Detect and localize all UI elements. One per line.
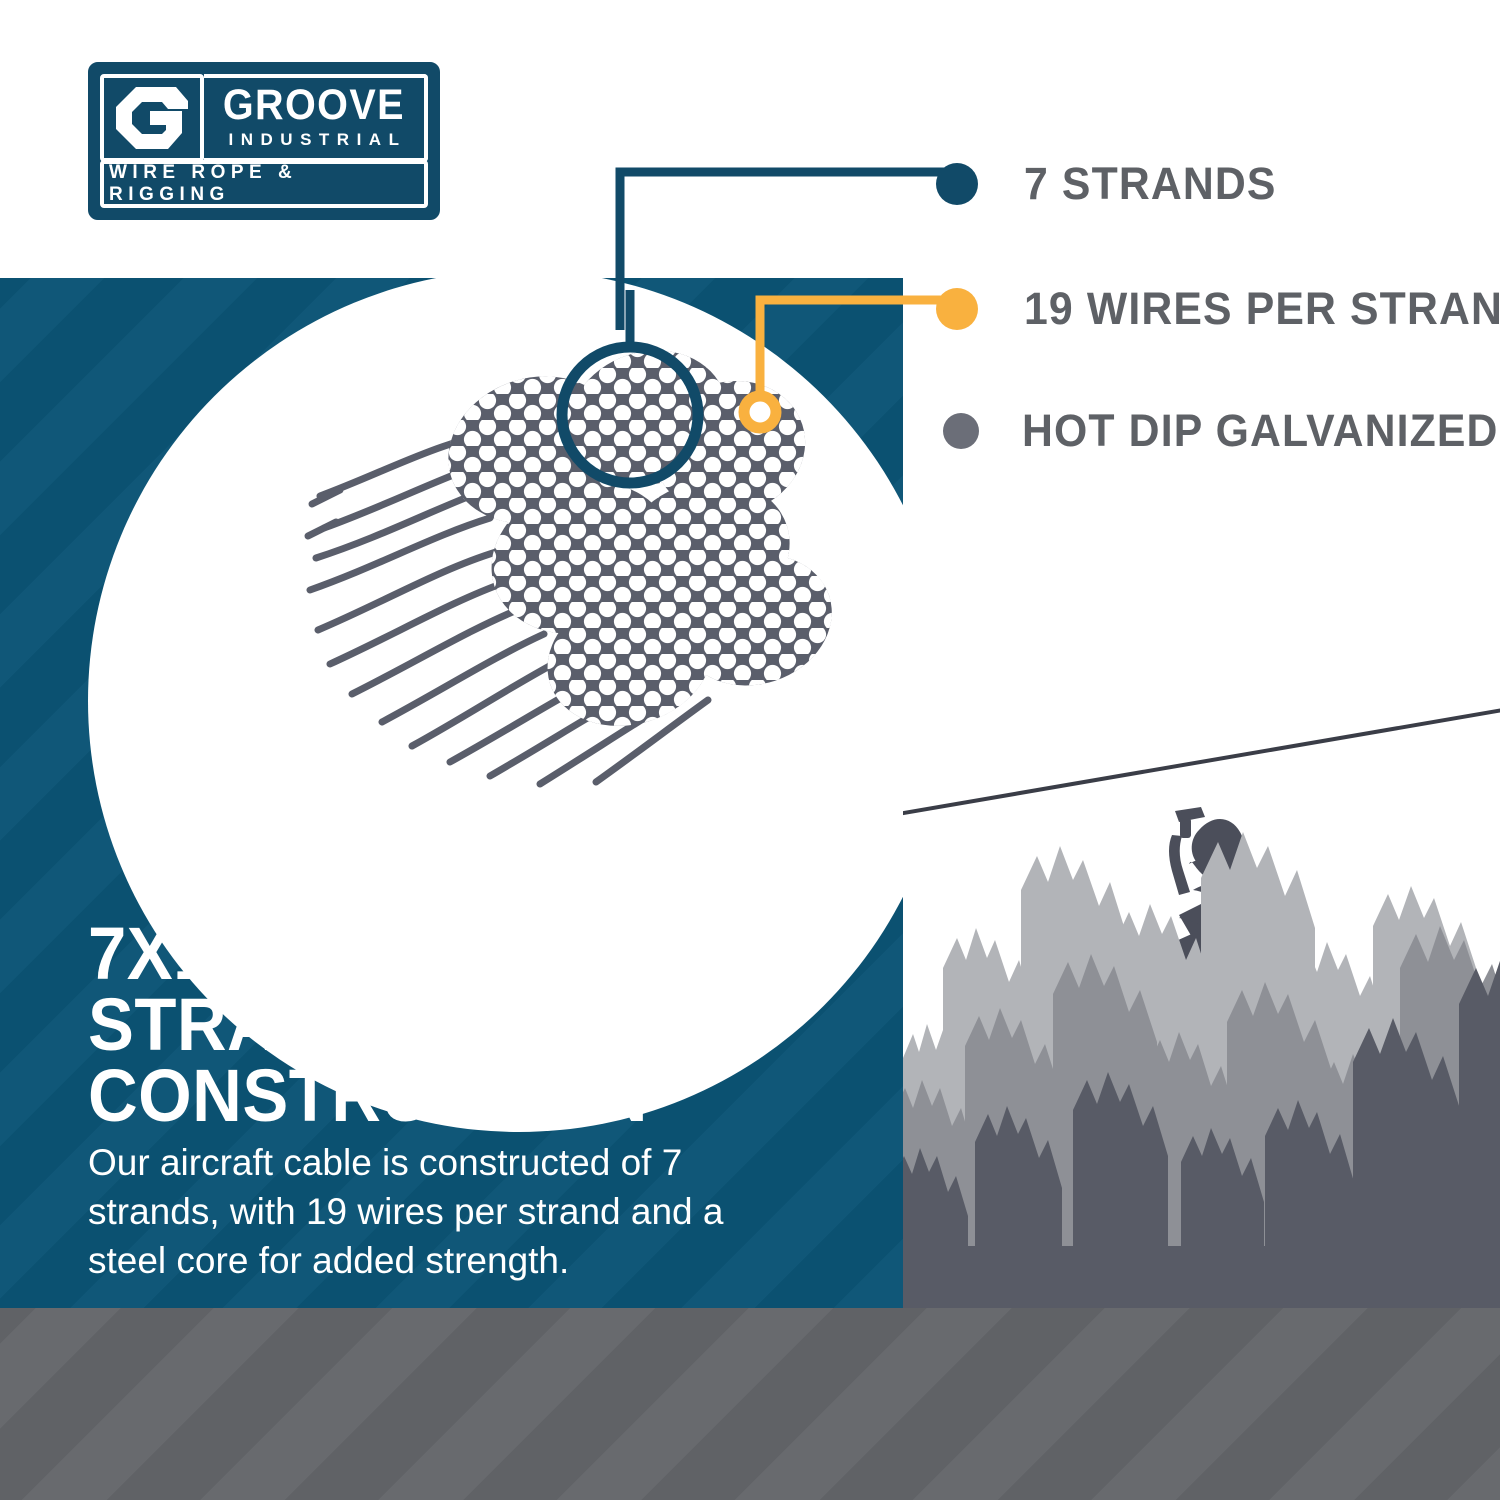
leader-line-strands [620,172,955,330]
band-stripe-texture [0,1308,1500,1500]
leader-line-wires [760,300,955,412]
logo-subword: INDUSTRIAL [222,130,407,150]
callout-item-wires: 19 WIRES PER STRAND [936,283,1500,335]
brand-logo[interactable]: GROOVE INDUSTRIAL WIRE ROPE & RIGGING [88,62,440,220]
callout-label-wires: 19 WIRES PER STRAND [1024,283,1500,335]
bottom-gray-band [0,1308,1500,1500]
headline-line-2: STRAND CONSTRUCTION [88,989,823,1131]
wires-anchor-ring-icon [744,396,776,428]
logo-wordmark: GROOVE [223,86,405,126]
infographic-canvas: 7 STRANDS 19 WIRES PER STRAND HOT DIP GA… [0,0,1500,1500]
callout-label-galvanized: HOT DIP GALVANIZED [1022,405,1499,457]
callout-dot-strands [936,163,978,205]
logo-tagline: WIRE ROPE & RIGGING [104,162,424,206]
callout-label-strands: 7 STRANDS [1024,158,1277,210]
callout-dot-galvanized [943,413,979,449]
page-title: 7X19 FLEXIBLE STRAND CONSTRUCTION [88,918,823,1131]
callout-item-galvanized: HOT DIP GALVANIZED [940,405,1500,457]
zipline-cable-icon [903,710,1500,814]
callout-dot-wires [936,288,978,330]
callout-item-strands: 7 STRANDS [936,158,1290,210]
groove-g-monogram-icon [100,74,204,162]
hero-description: Our aircraft cable is constructed of 7 s… [88,1138,768,1286]
